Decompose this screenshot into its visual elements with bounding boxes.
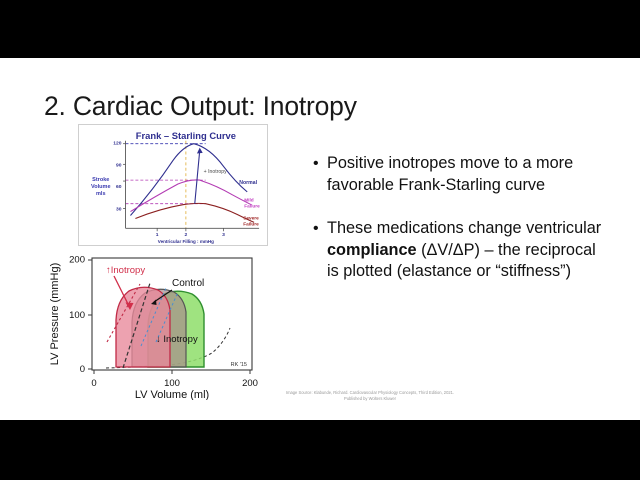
bullet-marker-2: • (313, 218, 319, 239)
pv-ytick-100: 100 (69, 310, 85, 321)
pv-xtick-0: 0 (91, 378, 96, 389)
fs-xtick-1: 1 (156, 232, 159, 238)
source-credit-line-2: Published by Wolters Kluwer (250, 396, 490, 402)
pv-label-decreased-inotropy: ↓ Inotropy (156, 334, 198, 345)
frank-starling-title: Frank – Starling Curve (136, 131, 236, 141)
pv-loop-chart: 200 100 0 LV Pressure (mmHg) 0 100 200 L… (44, 250, 259, 400)
fs-ylabel-line2: Volume (91, 184, 111, 190)
bullet-list: • Positive inotropes move to a more favo… (312, 153, 612, 305)
pv-watermark: RK '15 (231, 362, 247, 368)
fs-xtick-3: 3 (222, 232, 225, 238)
slide-viewer: 2. Cardiac Output: Inotropy Frank – Star… (0, 0, 640, 480)
bullet-text-2-before: These medications change ventricular (327, 219, 601, 237)
bullet-item-2: • These medications change ventricular c… (312, 218, 612, 283)
presentation-slide: 2. Cardiac Output: Inotropy Frank – Star… (0, 58, 640, 420)
fs-label-severe-line1: Severe (243, 215, 259, 221)
fs-label-mild-line1: Mild (244, 198, 254, 204)
fs-ytick-60: 60 (116, 184, 122, 190)
bullet-text-2-bold: compliance (327, 241, 417, 259)
bullet-text-1: Positive inotropes move to a more favora… (327, 154, 573, 194)
source-credit: Image Source: Klabunde, Richard. Cardiov… (250, 390, 490, 403)
letterbox-bottom (0, 420, 640, 480)
fs-xlabel: Ventricular Filling : mmHg (158, 239, 214, 244)
fs-ylabel-line1: Stroke (92, 177, 109, 183)
fs-xtick-2: 2 (184, 232, 187, 238)
pv-xlabel: LV Volume (ml) (135, 389, 209, 400)
fs-ytick-30: 30 (116, 207, 122, 213)
fs-ylabel-line3: mls (96, 191, 106, 197)
fs-ytick-120: 120 (113, 141, 121, 147)
frank-starling-chart: Frank – Starling Curve 120 90 60 30 Stro… (78, 124, 268, 246)
pv-label-control: Control (172, 278, 204, 289)
pv-ytick-0: 0 (80, 364, 85, 375)
fs-label-inotropy: + Inotropy (204, 169, 227, 175)
bullet-marker-1: • (313, 153, 319, 174)
letterbox-top (0, 0, 640, 58)
pv-ytick-200: 200 (69, 255, 85, 266)
pv-loop-increased-inotropy (116, 287, 170, 367)
fs-label-mild-line2: Failure (244, 204, 260, 210)
fs-label-normal: Normal (239, 180, 257, 186)
fs-ytick-90: 90 (116, 162, 122, 168)
pv-ylabel: LV Pressure (mmHg) (49, 263, 61, 365)
pv-xtick-200: 200 (242, 378, 258, 389)
page-title: 2. Cardiac Output: Inotropy (44, 91, 357, 122)
pv-label-increased-inotropy: ↑Inotropy (106, 265, 145, 276)
bullet-item-1: • Positive inotropes move to a more favo… (312, 153, 612, 196)
fs-label-severe-line2: Failure (243, 221, 259, 227)
pv-loop-svg: 200 100 0 LV Pressure (mmHg) 0 100 200 L… (44, 250, 259, 400)
frank-starling-svg: Frank – Starling Curve 120 90 60 30 Stro… (79, 125, 267, 245)
pv-xtick-100: 100 (164, 378, 180, 389)
